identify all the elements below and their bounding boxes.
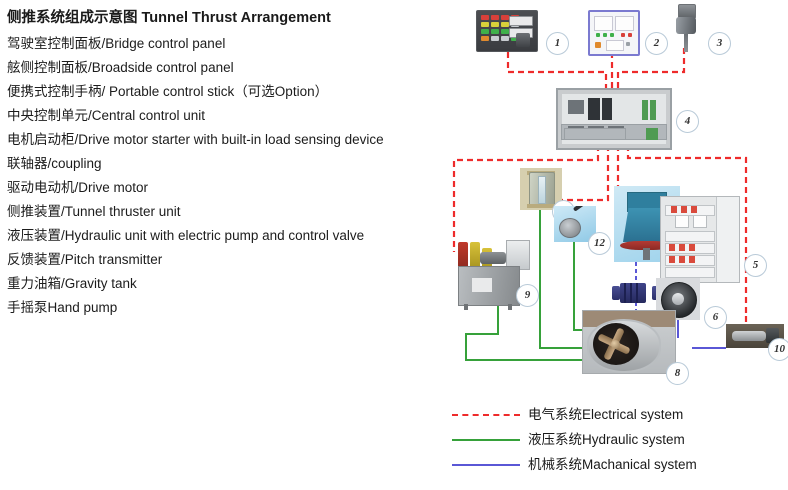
component-list-item-12: 手摇泵Hand pump <box>7 296 462 320</box>
component-list-item-7: 驱动电动机/Drive motor <box>7 176 462 200</box>
component-list-item-9: 液压装置/Hydraulic unit with electric pump a… <box>7 224 462 248</box>
component-list-item-5: 电机启动柜/Drive motor starter with built-in … <box>7 128 462 152</box>
component-list-item-4: 中央控制单元/Central control unit <box>7 104 462 128</box>
system-legend: 电气系统Electrical system 液压系统Hydraulic syst… <box>452 404 788 479</box>
component-list-item-8: 侧推装置/Tunnel thruster unit <box>7 200 462 224</box>
badge-10: 10 <box>768 338 788 361</box>
page-title: 侧推系统组成示意图 Tunnel Thrust Arrangement <box>7 8 462 28</box>
component-list-item-3: 便携式控制手柄/ Portable control stick（可选Option… <box>7 80 462 104</box>
legend-label-hydraulic: 液压系统Hydraulic system <box>528 429 685 451</box>
tunnel-thruster-icon <box>582 310 676 374</box>
broadside-control-panel-icon <box>588 10 640 56</box>
drive-motor-starter-cabinet-icon <box>660 196 740 283</box>
component-list-item-11: 重力油箱/Gravity tank <box>7 272 462 296</box>
badge-1: 1 <box>546 32 569 55</box>
badge-3: 3 <box>708 32 731 55</box>
wire-electrical-4-to-11 <box>562 145 608 200</box>
badge-4: 4 <box>676 110 699 133</box>
badge-6: 6 <box>704 306 727 329</box>
legend-row-electrical: 电气系统Electrical system <box>452 404 788 429</box>
wire-electrical-4-to-7 <box>618 145 646 192</box>
bridge-control-panel-icon <box>476 10 538 52</box>
badge-5: 5 <box>744 254 767 277</box>
component-list-item-6: 联轴器/coupling <box>7 152 462 176</box>
electric-motor-icon <box>612 280 660 306</box>
badge-9: 9 <box>516 284 539 307</box>
electrical-line-swatch <box>452 414 520 416</box>
badge-12: 12 <box>588 232 611 255</box>
device-portable-control-stick[interactable]: 3 <box>668 4 704 52</box>
legend-row-mechanical: 机械系统Machanical system <box>452 454 788 479</box>
badge-8: 8 <box>666 362 689 385</box>
hydraulic-line-swatch <box>452 439 520 441</box>
component-list-item-1: 驾驶室控制面板/Bridge control panel <box>7 32 462 56</box>
component-list-item-10: 反馈装置/Pitch transmitter <box>7 248 462 272</box>
component-list-item-2: 舷侧控制面板/Broadside control panel <box>7 56 462 80</box>
legend-row-hydraulic: 液压系统Hydraulic system <box>452 429 788 454</box>
mechanical-line-swatch <box>452 464 520 466</box>
badge-2: 2 <box>645 32 668 55</box>
component-list: 侧推系统组成示意图 Tunnel Thrust Arrangement 驾驶室控… <box>7 8 462 320</box>
legend-label-electrical: 电气系统Electrical system <box>528 404 683 426</box>
device-blue-drive-motor[interactable] <box>612 280 660 306</box>
central-control-unit-icon <box>556 88 672 150</box>
system-schematic: 1 2 3 <box>440 0 788 400</box>
portable-control-stick-icon <box>668 4 704 52</box>
wire-electrical-1-to-4 <box>508 52 606 88</box>
legend-label-mechanical: 机械系统Machanical system <box>528 454 697 476</box>
